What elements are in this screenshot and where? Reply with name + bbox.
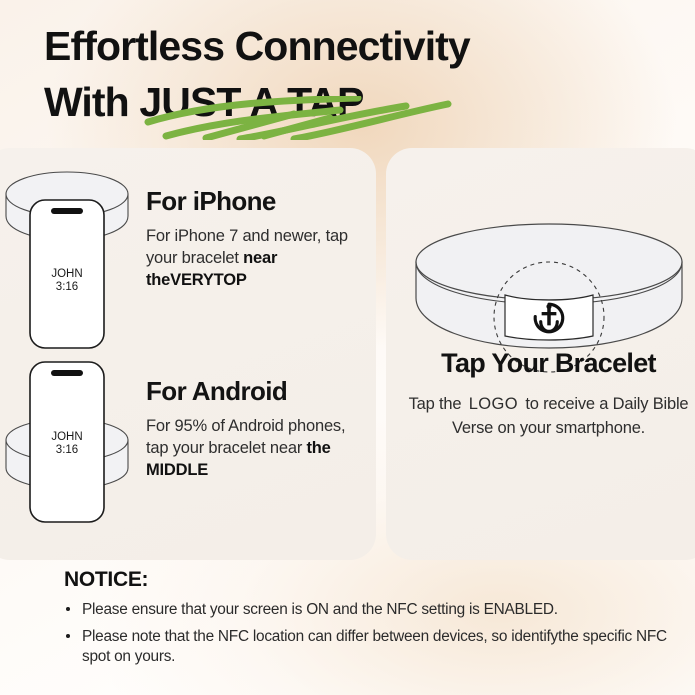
- notice-item-text: Please ensure that your screen is ON and…: [82, 601, 558, 618]
- android-screen-line1: JOHN: [51, 431, 82, 443]
- title-line-2-plain: With: [44, 79, 139, 125]
- iphone-bracelet-illustration: JOHN 3:16: [0, 158, 134, 353]
- card-bracelet: Tap Your Bracelet Tap the LOGO to receiv…: [386, 148, 695, 560]
- bullet-icon: [66, 634, 70, 638]
- row-iphone: JOHN 3:16 For iPhone For iPhone 7 and ne…: [0, 158, 376, 358]
- bracelet-description-logo: LOGO: [466, 395, 521, 413]
- title-line-2-accent: JUST A TAP: [139, 79, 363, 125]
- android-text-block: For Android For 95% of Android phones, t…: [146, 374, 372, 481]
- bracelet-description: Tap the LOGO to receive a Daily Bible Ve…: [406, 392, 691, 440]
- card-phones: JOHN 3:16 For iPhone For iPhone 7 and ne…: [0, 148, 376, 560]
- header: Effortless Connectivity With JUST A TAP: [44, 18, 664, 130]
- title-line-2: With JUST A TAP: [44, 74, 363, 130]
- iphone-description: For iPhone 7 and newer, tap your bracele…: [146, 225, 372, 291]
- notice-item: Please note that the NFC location can di…: [64, 627, 674, 667]
- title-line-1: Effortless Connectivity: [44, 18, 664, 74]
- infographic-poster: Effortless Connectivity With JUST A TAP: [0, 0, 695, 695]
- android-bracelet-illustration: JOHN 3:16: [0, 348, 134, 543]
- bracelet-heading: Tap Your Bracelet: [386, 348, 695, 379]
- row-android: JOHN 3:16 For Android For 95% of Android…: [0, 348, 376, 548]
- notice-title: NOTICE:: [64, 568, 674, 592]
- notice-item: Please ensure that your screen is ON and…: [64, 600, 674, 620]
- bracelet-description-part1: Tap the: [409, 395, 466, 413]
- android-description: For 95% of Android phones, tap your brac…: [146, 415, 372, 481]
- iphone-screen-line1: JOHN: [51, 268, 82, 280]
- notice-item-text: Please note that the NFC location can di…: [82, 628, 667, 665]
- bullet-icon: [66, 607, 70, 611]
- iphone-text-block: For iPhone For iPhone 7 and newer, tap y…: [146, 184, 372, 291]
- notice-section: NOTICE: Please ensure that your screen i…: [64, 568, 674, 674]
- iphone-screen-line2: 3:16: [56, 281, 78, 293]
- cards-container: JOHN 3:16 For iPhone For iPhone 7 and ne…: [0, 148, 695, 560]
- android-heading: For Android: [146, 374, 372, 408]
- android-screen-line2: 3:16: [56, 444, 78, 456]
- iphone-heading: For iPhone: [146, 184, 372, 218]
